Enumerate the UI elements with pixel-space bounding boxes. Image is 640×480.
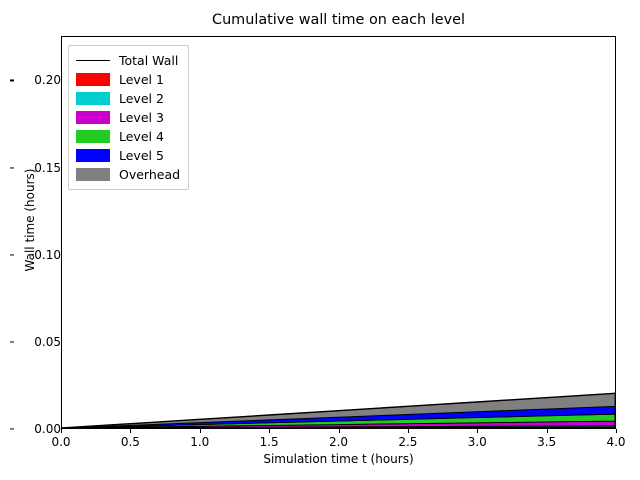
x-tick-mark: [269, 429, 270, 433]
y-tick-mark: [10, 167, 14, 168]
chart-title: Cumulative wall time on each level: [61, 12, 616, 28]
legend-item-level-4[interactable]: Level 4: [76, 127, 180, 146]
y-tick-label: 0.05: [15, 335, 61, 349]
legend-swatch-icon: [76, 73, 110, 86]
chart-legend: Total WallLevel 1Level 2Level 3Level 4Le…: [68, 45, 189, 190]
x-tick-label: 2.0: [309, 435, 369, 449]
legend-swatch-icon: [76, 92, 110, 105]
y-tick-label: 0.20: [15, 73, 61, 87]
x-axis-ticks: 0.00.51.01.52.02.53.03.54.0: [61, 429, 616, 453]
legend-item-label: Level 3: [119, 110, 164, 125]
figure-canvas: Cumulative wall time on each level 0.000…: [0, 0, 640, 480]
x-tick-mark: [477, 429, 478, 433]
x-tick-label: 1.0: [170, 435, 230, 449]
x-tick-mark: [200, 429, 201, 433]
y-tick-mark: [10, 80, 14, 81]
x-tick-label: 0.5: [100, 435, 160, 449]
y-tick-mark: [10, 341, 14, 342]
legend-item-level-1[interactable]: Level 1: [76, 70, 180, 89]
legend-swatch-icon: [76, 130, 110, 143]
x-tick-label: 4.0: [586, 435, 640, 449]
legend-item-label: Level 5: [119, 148, 164, 163]
legend-line-icon: [76, 54, 110, 67]
legend-item-level-2[interactable]: Level 2: [76, 89, 180, 108]
x-tick-label: 2.5: [378, 435, 438, 449]
x-tick-mark: [61, 429, 62, 433]
legend-item-label: Level 2: [119, 91, 164, 106]
x-tick-label: 3.5: [517, 435, 577, 449]
legend-item-level-5[interactable]: Level 5: [76, 146, 180, 165]
x-axis-label: Simulation time t (hours): [61, 452, 616, 466]
y-tick-label: 0.00: [15, 422, 61, 436]
y-tick-label: 0.10: [15, 248, 61, 262]
legend-swatch-icon: [76, 111, 110, 124]
legend-item-overhead[interactable]: Overhead: [76, 165, 180, 184]
legend-item-level-3[interactable]: Level 3: [76, 108, 180, 127]
legend-item-label: Overhead: [119, 167, 180, 182]
x-tick-mark: [547, 429, 548, 433]
legend-item-label: Level 4: [119, 129, 164, 144]
y-axis-label: Wall time (hours): [23, 120, 37, 320]
x-tick-mark: [339, 429, 340, 433]
x-tick-label: 3.0: [447, 435, 507, 449]
x-tick-mark: [616, 429, 617, 433]
legend-item-label: Level 1: [119, 72, 164, 87]
legend-line-stroke: [76, 60, 110, 61]
legend-item-total-wall[interactable]: Total Wall: [76, 51, 180, 70]
x-tick-mark: [408, 429, 409, 433]
legend-swatch-icon: [76, 168, 110, 181]
legend-item-label: Total Wall: [119, 53, 178, 68]
y-tick-label: 0.15: [15, 161, 61, 175]
x-tick-label: 0.0: [31, 435, 91, 449]
y-tick-mark: [10, 254, 14, 255]
x-tick-mark: [130, 429, 131, 433]
x-tick-label: 1.5: [239, 435, 299, 449]
legend-swatch-icon: [76, 149, 110, 162]
y-tick-mark: [10, 428, 14, 429]
